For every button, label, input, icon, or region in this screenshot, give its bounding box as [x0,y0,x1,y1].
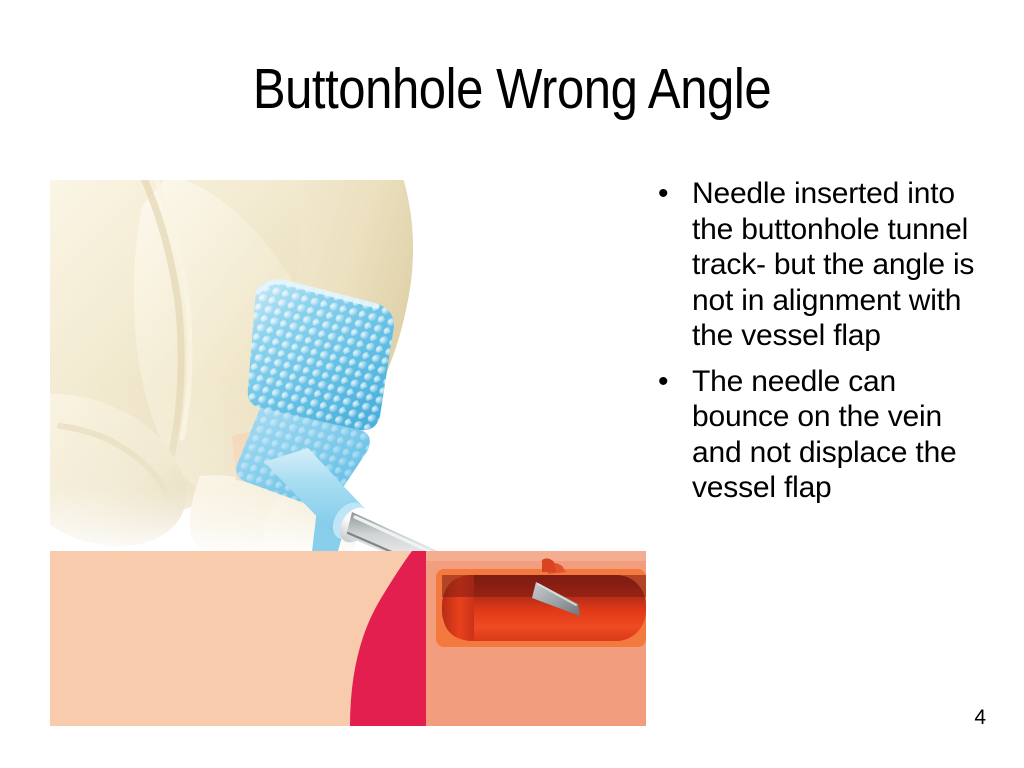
skin-surface-strip [426,551,646,561]
bullet-text: Needle inserted into the buttonhole tunn… [692,176,975,354]
bullet-text: The needle can bounce on the vein and no… [692,364,975,506]
list-item: • Needle inserted into the buttonhole tu… [655,176,975,354]
page-number: 4 [974,706,986,730]
tissue-cross-section [50,551,646,726]
illustration-container [50,180,646,726]
buttonhole-illustration-svg [50,180,646,726]
bullet-point-icon: • [655,176,692,212]
list-item: • The needle can bounce on the vein and … [655,364,975,506]
slide-root: Buttonhole Wrong Angle [0,0,1024,768]
page-title: Buttonhole Wrong Angle [72,56,953,122]
bullet-point-icon: • [655,364,692,400]
bullet-list: • Needle inserted into the buttonhole tu… [655,176,975,516]
